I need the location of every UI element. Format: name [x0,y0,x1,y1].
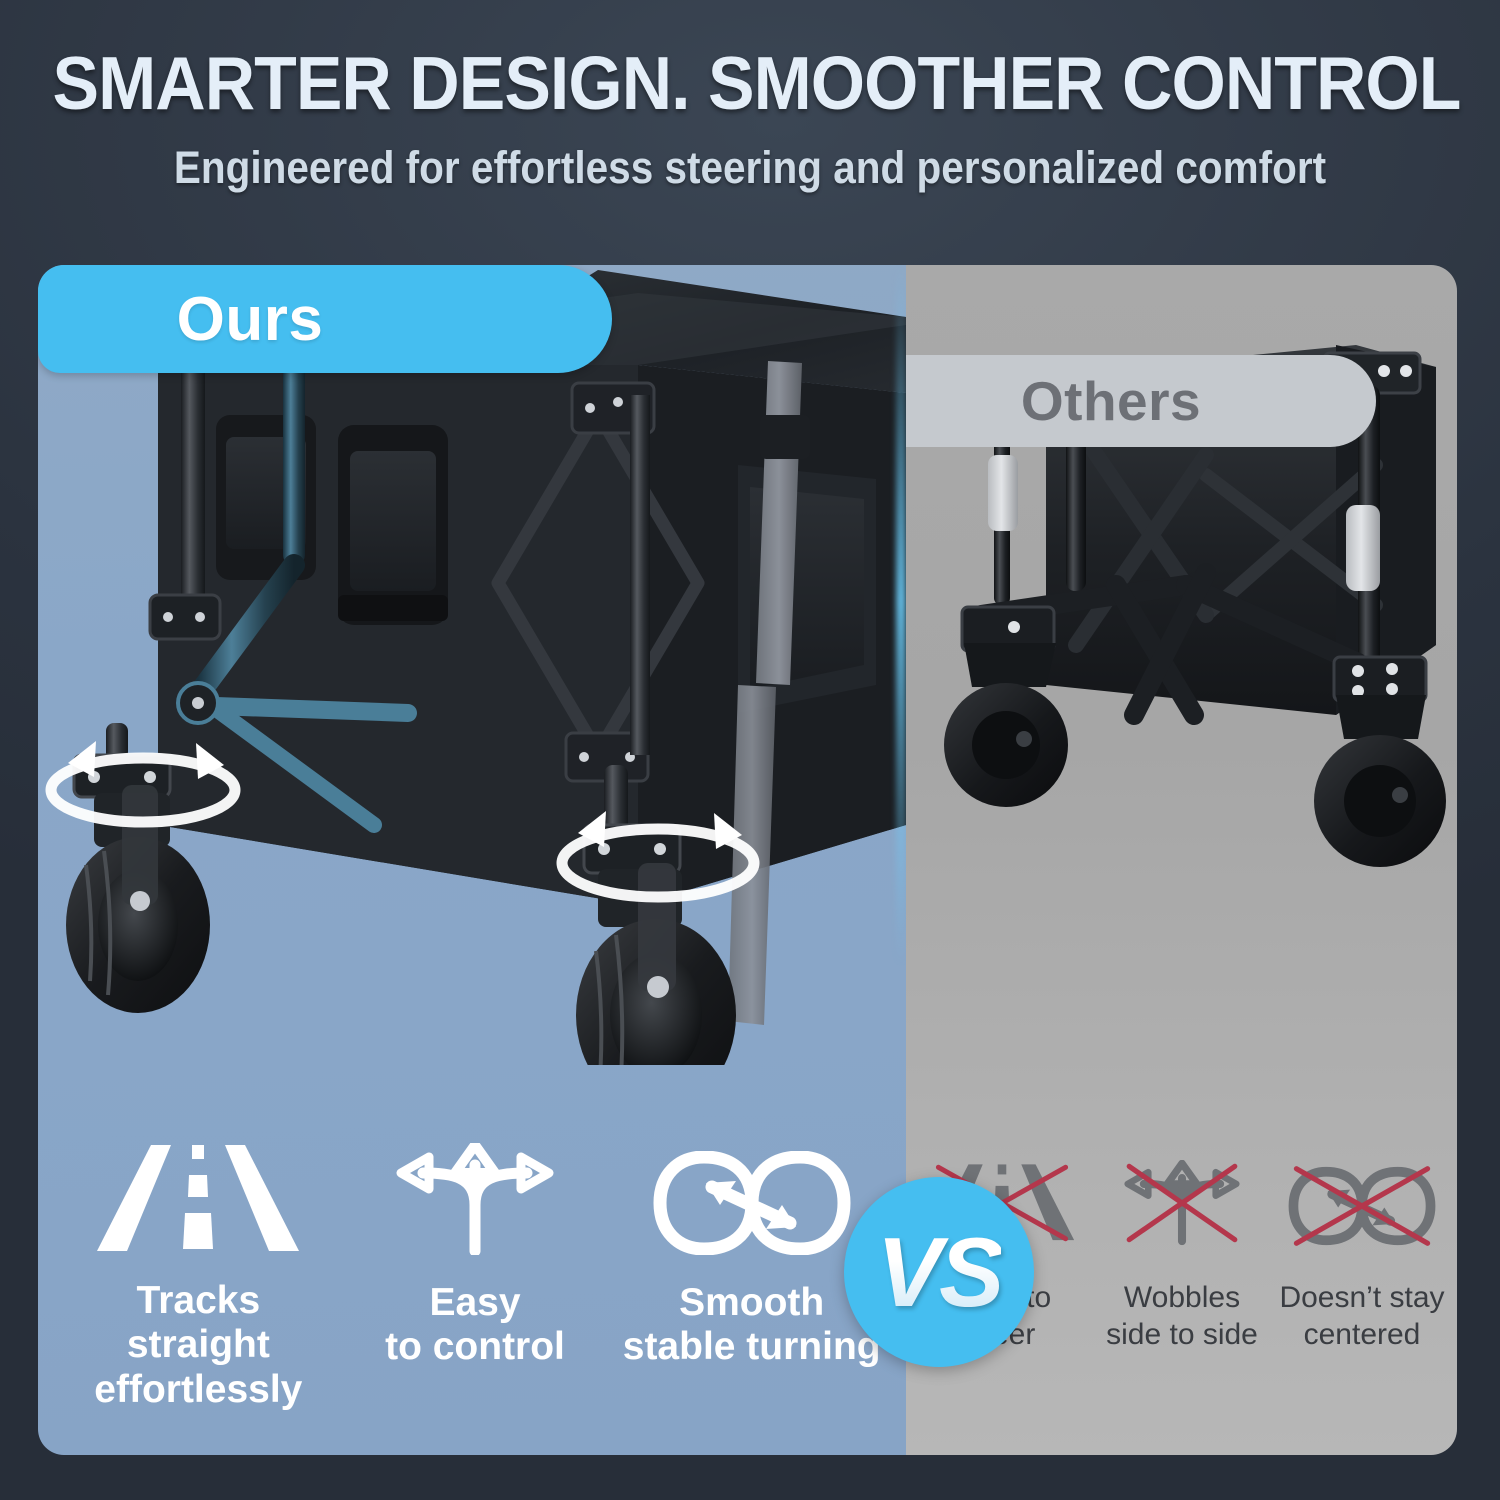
road-straight-icon [93,1145,303,1253]
grip-sleeve-left [988,455,1018,531]
feature-others-1-label: Wobbles side to side [1106,1280,1258,1353]
feature-others-2-label: Doesn’t stay centered [1279,1280,1444,1353]
competitor-wheel-right [1314,657,1446,867]
feature-ours-0: Tracks straight effortlessly [60,1145,337,1395]
wagon-illustration-ours [38,265,906,1065]
feature-ours-1: Easy to control [337,1145,614,1395]
page-title: SMARTER DESIGN. SMOOTHER CONTROL [53,0,1448,121]
vs-badge: VS [844,1177,1034,1367]
comparison-panels: Ours Tracks straight effortlessly [38,265,1457,1455]
competitor-wheel-left [944,607,1068,807]
features-ours: Tracks straight effortlessly [60,1145,890,1395]
badge-ours-label: Ours [177,284,474,355]
infinity-loop-icon-crossed [1286,1160,1438,1246]
feature-ours-0-label: Tracks straight effortlessly [60,1279,337,1412]
page-subtitle: Engineered for effortless steering and p… [75,141,1425,194]
grip-sleeve-right [1346,505,1380,591]
feature-ours-1-label: Easy to control [385,1281,565,1370]
feature-ours-2-label: Smooth stable turning [623,1281,881,1370]
badge-ours: Ours [38,265,612,373]
badge-others-label: Others [1021,369,1261,433]
panel-ours: Ours Tracks straight effortlessly [38,265,906,1455]
infinity-loop-icon [650,1145,854,1255]
badge-others: Others [906,355,1376,447]
panel-edge-glow [896,265,906,965]
feature-others-2: Doesn’t stay centered [1272,1160,1452,1390]
three-way-arrow-icon [385,1145,565,1255]
three-way-arrow-icon-crossed [1116,1160,1248,1246]
vs-label: VS [877,1216,1002,1329]
feature-others-1: Wobbles side to side [1092,1160,1272,1390]
header: SMARTER DESIGN. SMOOTHER CONTROL Enginee… [0,0,1500,265]
